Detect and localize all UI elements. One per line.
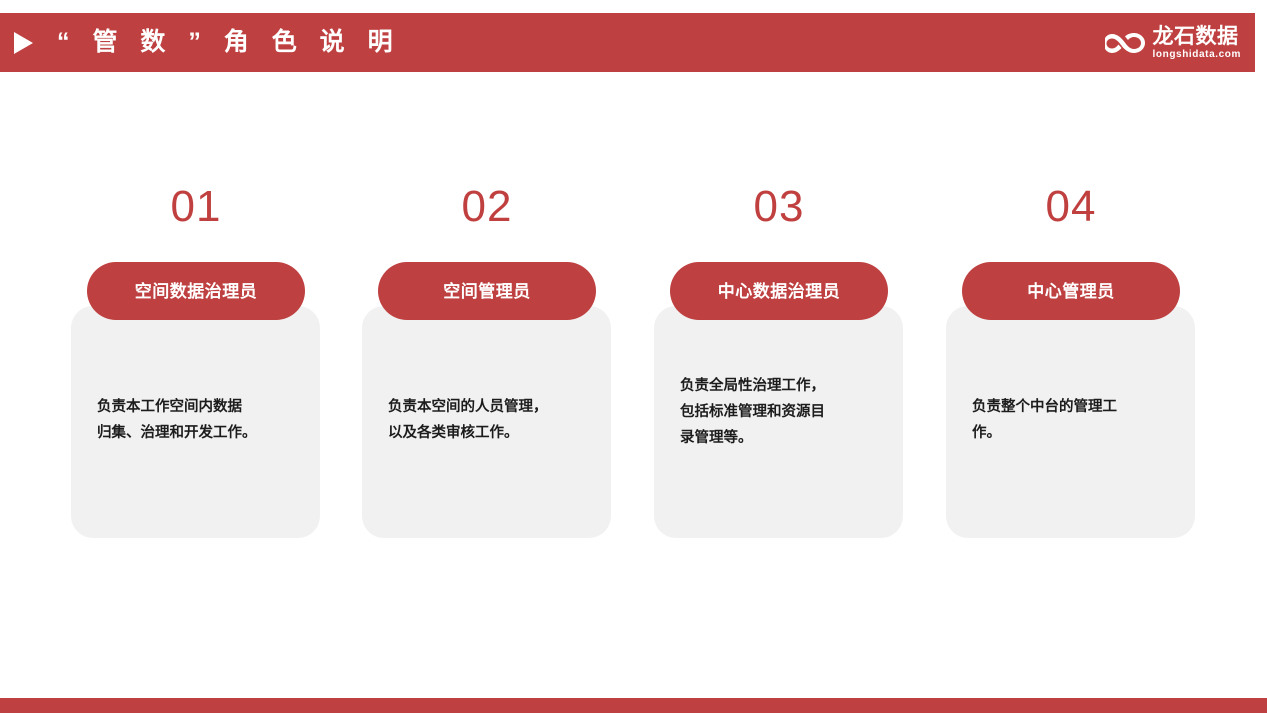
footer-bar [0, 698, 1267, 713]
role-card-title: 中心数据治理员 [718, 283, 841, 300]
brand-logo-text: 龙石数据 longshidata.com [1153, 26, 1241, 60]
role-card-pill[interactable]: 中心数据治理员 [670, 262, 888, 320]
role-card-number: 01 [50, 185, 342, 235]
role-card-body: 负责全局性治理工作， 包括标准管理和资源目 录管理等。 [654, 306, 903, 538]
role-card-4: 04 负责整个中台的管理工 作。 中心管理员 [925, 185, 1217, 545]
brand-logo: 龙石数据 longshidata.com [1105, 26, 1241, 60]
role-card-pill[interactable]: 中心管理员 [962, 262, 1180, 320]
role-card-title: 中心管理员 [1027, 283, 1115, 300]
infinity-swirl-logo-icon [1105, 29, 1147, 57]
role-card-title: 空间管理员 [443, 283, 531, 300]
role-card-description: 负责本工作空间内数据 归集、治理和开发工作。 [97, 394, 304, 446]
brand-name-cn: 龙石数据 [1153, 26, 1241, 47]
role-cards-row: 01 负责本工作空间内数据 归集、治理和开发工作。 空间数据治理员 02 负责本… [0, 185, 1267, 545]
play-triangle-icon [14, 32, 33, 54]
role-card-2: 02 负责本空间的人员管理， 以及各类审核工作。 空间管理员 [341, 185, 633, 545]
role-card-description: 负责全局性治理工作， 包括标准管理和资源目 录管理等。 [680, 373, 887, 451]
role-card-pill[interactable]: 空间管理员 [378, 262, 596, 320]
role-card-pill[interactable]: 空间数据治理员 [87, 262, 305, 320]
brand-name-en: longshidata.com [1153, 50, 1241, 60]
role-card-3: 03 负责全局性治理工作， 包括标准管理和资源目 录管理等。 中心数据治理员 [633, 185, 925, 545]
header-bar: “ 管 数 ” 角 色 说 明 龙石数据 longshidata.com [0, 13, 1255, 72]
role-card-title: 空间数据治理员 [135, 283, 258, 300]
role-card-1: 01 负责本工作空间内数据 归集、治理和开发工作。 空间数据治理员 [50, 185, 342, 545]
role-card-description: 负责本空间的人员管理， 以及各类审核工作。 [388, 394, 595, 446]
role-card-number: 04 [925, 185, 1217, 235]
role-card-number: 02 [341, 185, 633, 235]
role-card-description: 负责整个中台的管理工 作。 [972, 394, 1179, 446]
role-card-body: 负责整个中台的管理工 作。 [946, 306, 1195, 538]
role-card-body: 负责本工作空间内数据 归集、治理和开发工作。 [71, 306, 320, 538]
page-title: “ 管 数 ” 角 色 说 明 [57, 30, 401, 55]
role-card-body: 负责本空间的人员管理， 以及各类审核工作。 [362, 306, 611, 538]
role-card-number: 03 [633, 185, 925, 235]
